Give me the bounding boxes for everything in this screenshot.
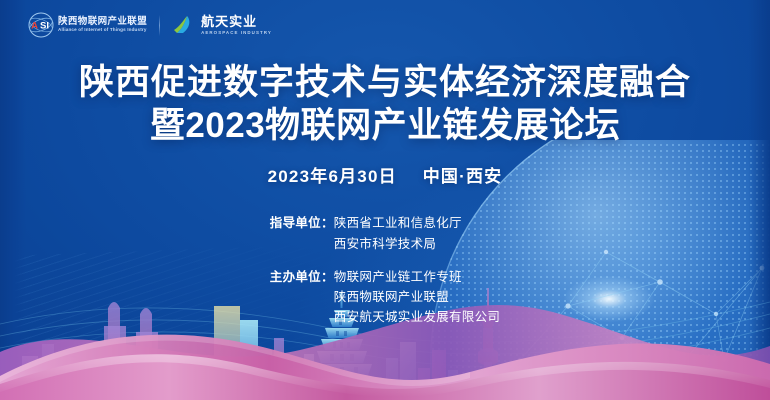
alliance-en-name: Alliance of Internet of Things Industry bbox=[58, 28, 147, 33]
org-value: 陕西省工业和信息化厅 bbox=[334, 213, 462, 233]
org-group-host: 主办单位： 物联网产业链工作专班 陕西物联网产业联盟 西安航天城实业发展有限公司 bbox=[270, 267, 500, 328]
event-title: 陕西促进数字技术与实体经济深度融合 暨2023物联网产业链发展论坛 bbox=[0, 62, 770, 147]
org-label: 主办单位： bbox=[270, 267, 334, 287]
logo-divider bbox=[159, 15, 160, 36]
conference-banner: A SI 陕西物联网产业联盟 Alliance of Internet of T… bbox=[0, 0, 770, 400]
org-group-guidance: 指导单位： 陕西省工业和信息化厅 西安市科学技术局 bbox=[270, 213, 500, 254]
svg-text:SI: SI bbox=[40, 21, 49, 32]
org-value: 西安市科学技术局 bbox=[334, 234, 462, 254]
event-date: 2023年6月30日 bbox=[268, 167, 397, 186]
banner-content: 陕西促进数字技术与实体经济深度融合 暨2023物联网产业链发展论坛 2023年6… bbox=[0, 0, 770, 328]
organizations-block: 指导单位： 陕西省工业和信息化厅 西安市科学技术局 主办单位： 物联网产业链工作… bbox=[270, 213, 500, 327]
aerospace-swoosh-icon bbox=[172, 15, 196, 35]
org-value: 物联网产业链工作专班 bbox=[334, 267, 500, 287]
aerospace-en-name: AEROSPACE INDUSTRY bbox=[201, 31, 272, 35]
title-line-1: 陕西促进数字技术与实体经济深度融合 bbox=[0, 62, 770, 105]
svg-text:A: A bbox=[31, 21, 38, 32]
aerospace-cn-name: 航天实业 bbox=[201, 15, 272, 28]
org-label: 指导单位： bbox=[270, 213, 334, 233]
logo-bar: A SI 陕西物联网产业联盟 Alliance of Internet of T… bbox=[28, 9, 272, 41]
org-value: 陕西物联网产业联盟 bbox=[334, 287, 500, 307]
org-value: 西安航天城实业发展有限公司 bbox=[334, 307, 500, 327]
asi-roundel-icon: A SI bbox=[28, 12, 54, 38]
event-subtitle: 2023年6月30日 中国·西安 bbox=[0, 162, 770, 187]
alliance-logo: A SI 陕西物联网产业联盟 Alliance of Internet of T… bbox=[28, 12, 147, 38]
aerospace-logo: 航天实业 AEROSPACE INDUSTRY bbox=[172, 15, 272, 35]
alliance-cn-name: 陕西物联网产业联盟 bbox=[58, 17, 147, 27]
event-location: 中国·西安 bbox=[423, 167, 503, 186]
title-line-2: 暨2023物联网产业链发展论坛 bbox=[0, 105, 770, 148]
